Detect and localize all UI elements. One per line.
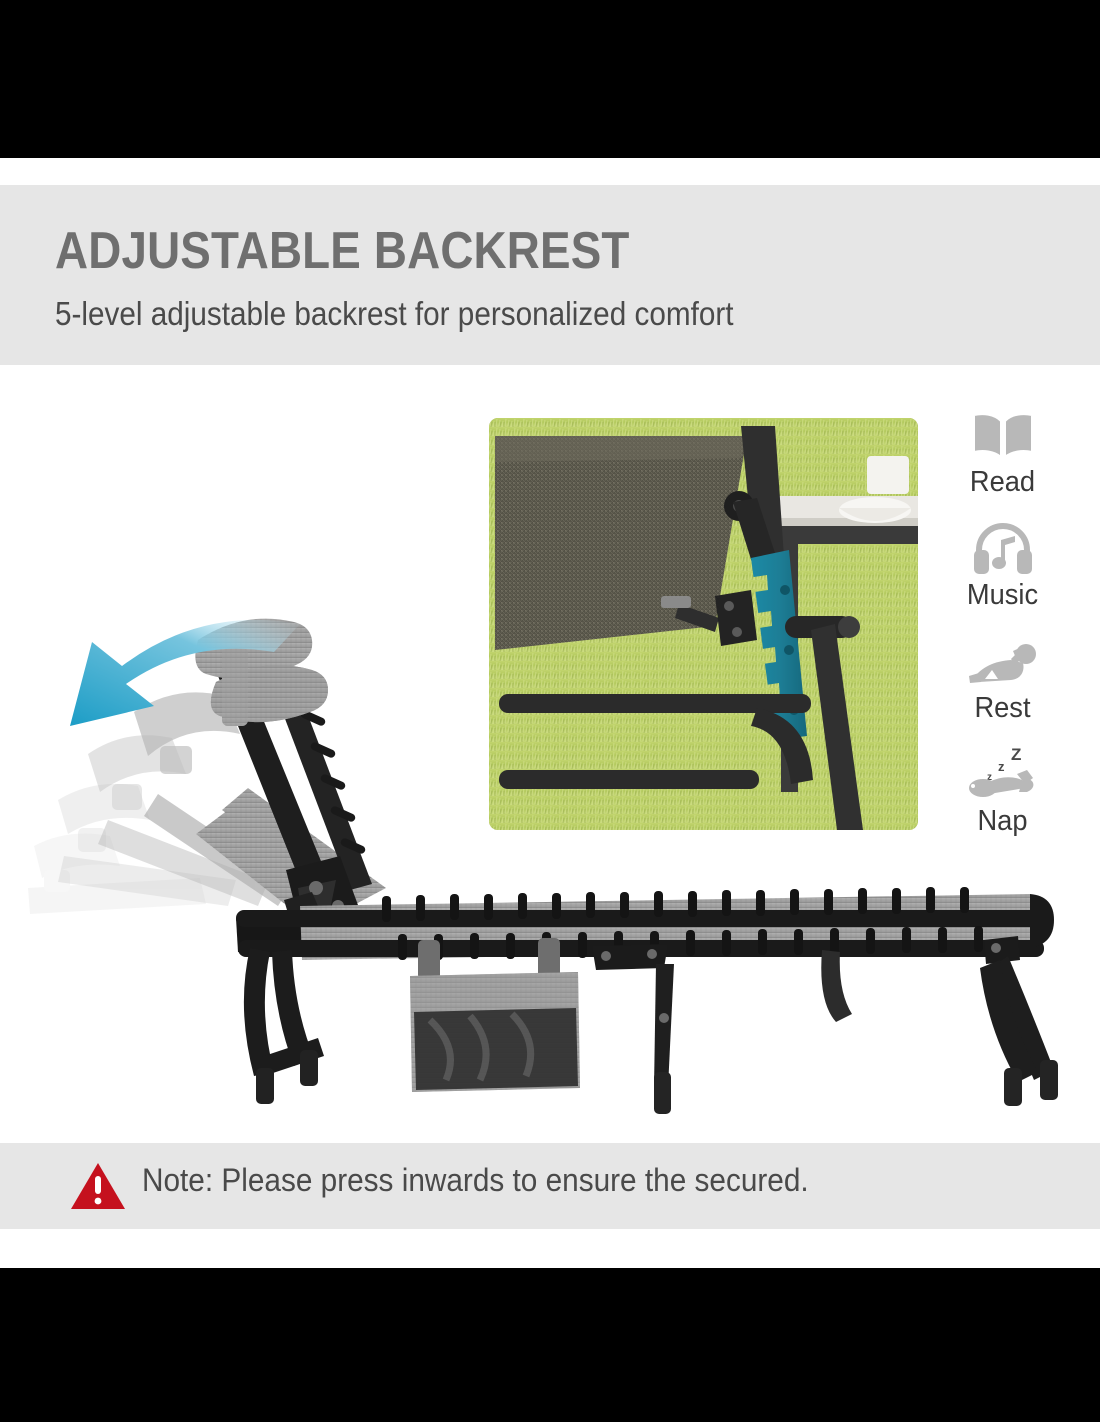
warning-triangle-icon (70, 1161, 126, 1211)
letterbox-top (0, 0, 1100, 158)
folding-chaise-lounger (0, 588, 1100, 1148)
letterbox-bottom (0, 1268, 1100, 1422)
page-subtitle: 5-level adjustable backrest for personal… (55, 295, 734, 333)
headphones-music-icon (940, 514, 1065, 576)
product-infographic: ADJUSTABLE BACKREST 5-level adjustable b… (0, 158, 1100, 1268)
activity-label: Read (944, 468, 1062, 497)
note-text: Note: Please press inwards to ensure the… (142, 1162, 809, 1199)
note-band: Note: Please press inwards to ensure the… (0, 1143, 1100, 1229)
page-title: ADJUSTABLE BACKREST (55, 221, 630, 281)
header-band: ADJUSTABLE BACKREST 5-level adjustable b… (0, 185, 1100, 365)
open-book-icon (940, 401, 1065, 463)
activity-item-read: Read (940, 401, 1065, 514)
